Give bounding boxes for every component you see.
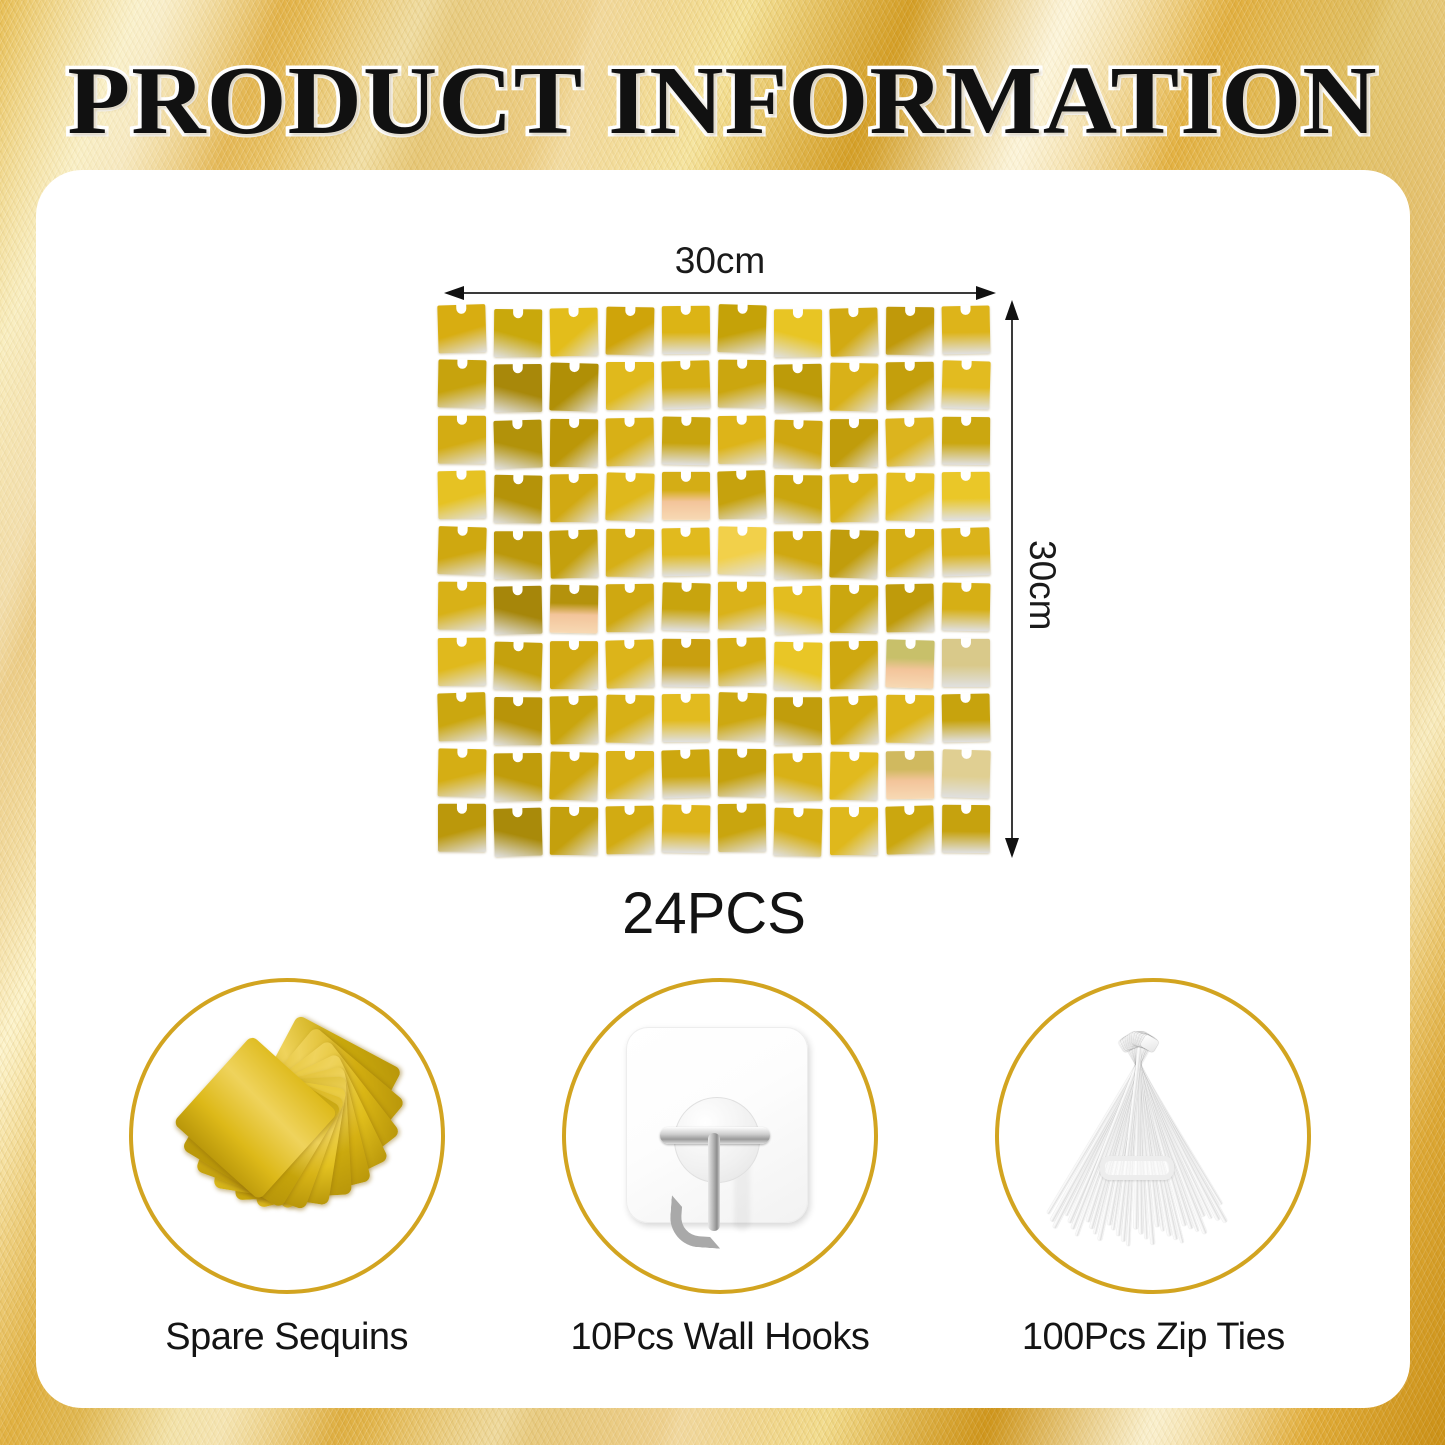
sequin-cell bbox=[826, 692, 882, 748]
sequin bbox=[494, 753, 543, 801]
sequin bbox=[437, 304, 487, 353]
sequin bbox=[662, 472, 710, 520]
sequin bbox=[718, 804, 767, 852]
sequin-cell bbox=[434, 747, 490, 803]
tie-band bbox=[1100, 1156, 1174, 1180]
sequin bbox=[493, 419, 543, 468]
panel-quantity-label: 24PCS bbox=[434, 880, 994, 947]
sequin-cell bbox=[490, 414, 546, 470]
sequin bbox=[941, 305, 990, 354]
sequin bbox=[718, 360, 767, 408]
sequin bbox=[493, 641, 543, 690]
sequin bbox=[718, 582, 766, 630]
accessory-callouts: Spare Sequins 10Pcs Wall Hooks bbox=[70, 978, 1370, 1378]
sequin bbox=[437, 693, 487, 742]
sequin-cell bbox=[826, 525, 882, 581]
sequin-cell bbox=[714, 692, 770, 748]
sequin-cell bbox=[490, 525, 546, 581]
sequin bbox=[438, 582, 487, 630]
sequin-cell bbox=[938, 581, 994, 637]
sequin-cell bbox=[546, 359, 602, 415]
sequin-cell bbox=[938, 803, 994, 859]
sequin bbox=[942, 639, 990, 687]
sequin bbox=[494, 586, 543, 635]
sequin-cell bbox=[602, 470, 658, 526]
sequin-cell bbox=[938, 525, 994, 581]
sequin bbox=[437, 526, 487, 575]
sequin bbox=[549, 751, 599, 800]
sequin-cell bbox=[770, 525, 826, 581]
sequin bbox=[550, 474, 599, 522]
sequin-cell bbox=[546, 525, 602, 581]
sequin-cell bbox=[658, 414, 714, 470]
sequin-cell bbox=[434, 303, 490, 359]
sequin bbox=[941, 527, 991, 576]
sequin-cell bbox=[714, 581, 770, 637]
callout-wall-hooks: 10Pcs Wall Hooks bbox=[530, 978, 910, 1359]
sequin-cell bbox=[490, 692, 546, 748]
sequin-cell bbox=[826, 581, 882, 637]
sequin-cell bbox=[434, 525, 490, 581]
sequin-cell bbox=[546, 470, 602, 526]
sequin-cell bbox=[602, 303, 658, 359]
height-dimension-arrow bbox=[1004, 300, 1020, 858]
sequin-cell bbox=[770, 414, 826, 470]
sequin-cell bbox=[770, 692, 826, 748]
sequin-cell bbox=[826, 414, 882, 470]
callout-label-zip-ties: 100Pcs Zip Ties bbox=[963, 1316, 1343, 1359]
sequin-cell bbox=[546, 803, 602, 859]
sequin-cell bbox=[602, 803, 658, 859]
sequin bbox=[661, 416, 710, 465]
sequin-cell bbox=[658, 470, 714, 526]
callout-spare-sequins: Spare Sequins bbox=[97, 978, 477, 1359]
sequin-cell bbox=[714, 303, 770, 359]
sequin-cell bbox=[882, 359, 938, 415]
sequin bbox=[438, 804, 486, 852]
sequin bbox=[830, 807, 878, 855]
sequin-cell bbox=[770, 747, 826, 803]
sequin-cell bbox=[602, 581, 658, 637]
sequin bbox=[886, 307, 935, 355]
sequin-cell bbox=[882, 470, 938, 526]
sequin bbox=[829, 529, 879, 578]
sequin-cell bbox=[882, 581, 938, 637]
sequin bbox=[606, 751, 654, 799]
sequin-cell bbox=[714, 747, 770, 803]
sequin-cell bbox=[490, 303, 546, 359]
sequin-cell bbox=[602, 525, 658, 581]
sequin bbox=[549, 308, 598, 357]
sequin bbox=[662, 694, 711, 742]
page-title: PRODUCT INFORMATION bbox=[0, 52, 1445, 149]
sequin bbox=[662, 639, 711, 687]
sequin bbox=[774, 364, 823, 413]
sequin-cell bbox=[938, 692, 994, 748]
sequin-cell bbox=[434, 803, 490, 859]
sequin bbox=[717, 304, 767, 353]
width-dimension-arrow bbox=[444, 285, 996, 301]
sequin-cell bbox=[490, 636, 546, 692]
sequin bbox=[717, 471, 767, 520]
sequin-cell bbox=[826, 359, 882, 415]
sequin bbox=[438, 416, 486, 464]
sequin-cell bbox=[546, 747, 602, 803]
sequin-cell bbox=[826, 470, 882, 526]
sequin-cell bbox=[770, 636, 826, 692]
sequin-cell bbox=[770, 581, 826, 637]
sequin bbox=[941, 361, 991, 410]
sequin bbox=[661, 805, 710, 854]
sequin-cell bbox=[714, 470, 770, 526]
sequin bbox=[605, 473, 655, 522]
sequin bbox=[718, 526, 767, 575]
sequin bbox=[550, 419, 599, 467]
sequin bbox=[661, 361, 711, 410]
sequin-cell bbox=[490, 803, 546, 859]
sequin-cell bbox=[882, 747, 938, 803]
sequin bbox=[829, 752, 878, 801]
sequin bbox=[438, 748, 487, 797]
sequin-cell bbox=[714, 359, 770, 415]
sequin bbox=[830, 585, 879, 633]
sequin bbox=[661, 749, 711, 798]
sequin-cell bbox=[882, 803, 938, 859]
sequin-cell bbox=[938, 470, 994, 526]
sequin-stack-icon bbox=[152, 1031, 422, 1241]
sequin bbox=[773, 419, 823, 468]
sequin bbox=[437, 471, 486, 520]
sequin bbox=[717, 693, 767, 742]
sequin-cell bbox=[434, 414, 490, 470]
sequin bbox=[549, 585, 598, 634]
sequin-cell bbox=[826, 636, 882, 692]
sequin-cell bbox=[546, 414, 602, 470]
sequin bbox=[549, 696, 598, 745]
sequin-cell bbox=[546, 636, 602, 692]
sequin bbox=[718, 748, 767, 796]
sequin bbox=[774, 698, 822, 746]
sequin bbox=[829, 307, 879, 356]
sequin-cell bbox=[490, 747, 546, 803]
callout-zip-ties: 100Pcs Zip Ties bbox=[963, 978, 1343, 1359]
sequin-cell bbox=[658, 359, 714, 415]
sequin bbox=[830, 419, 878, 467]
sequin-cell bbox=[434, 581, 490, 637]
sequin bbox=[438, 360, 487, 409]
sequin bbox=[829, 696, 879, 745]
sequin-cell bbox=[882, 525, 938, 581]
callout-label-spare-sequins: Spare Sequins bbox=[97, 1316, 477, 1359]
sequin bbox=[493, 808, 543, 857]
sequin-cell bbox=[714, 414, 770, 470]
sequin bbox=[718, 415, 767, 463]
sequin bbox=[494, 531, 542, 579]
sequin bbox=[941, 694, 990, 743]
sequin-cell bbox=[938, 303, 994, 359]
product-information-page: PRODUCT INFORMATION 30cm 30cm 24PCS Spar… bbox=[0, 0, 1445, 1445]
sequin bbox=[606, 529, 655, 577]
sequin bbox=[549, 363, 599, 412]
sequin-cell bbox=[546, 581, 602, 637]
sequin-cell bbox=[658, 692, 714, 748]
sequin bbox=[494, 309, 543, 357]
sequin-cell bbox=[434, 636, 490, 692]
sequin-cell bbox=[826, 803, 882, 859]
sequin-cell bbox=[602, 414, 658, 470]
sequin bbox=[661, 527, 710, 576]
sequin bbox=[829, 363, 878, 412]
sequin bbox=[886, 751, 935, 799]
sequin-cell bbox=[490, 470, 546, 526]
sequin bbox=[494, 364, 543, 412]
callout-ring bbox=[129, 978, 445, 1294]
sequin-cell bbox=[658, 303, 714, 359]
sequin bbox=[885, 584, 934, 633]
sequin bbox=[942, 417, 991, 465]
sequin-cell bbox=[882, 303, 938, 359]
sequin bbox=[605, 417, 654, 466]
sequin-cell bbox=[714, 636, 770, 692]
sequin bbox=[605, 306, 654, 355]
sequin bbox=[493, 475, 542, 524]
sequin bbox=[438, 637, 487, 685]
sequin bbox=[661, 583, 711, 632]
sequin-cell bbox=[658, 747, 714, 803]
sequin-cell bbox=[602, 692, 658, 748]
sequin bbox=[886, 362, 935, 410]
sequin-cell bbox=[770, 803, 826, 859]
sequin bbox=[605, 639, 655, 688]
sequin-cell bbox=[882, 692, 938, 748]
sequin bbox=[606, 584, 655, 632]
callout-ring bbox=[995, 978, 1311, 1294]
sequin bbox=[773, 642, 822, 691]
sequin-cell bbox=[714, 803, 770, 859]
sequin-cell bbox=[434, 359, 490, 415]
sequin bbox=[717, 637, 766, 686]
sequin bbox=[550, 807, 599, 855]
sequin bbox=[774, 309, 822, 357]
sequin bbox=[830, 641, 879, 689]
sequin-cell bbox=[938, 636, 994, 692]
sequin bbox=[942, 805, 991, 853]
sequin-cell bbox=[882, 414, 938, 470]
sequin bbox=[829, 474, 878, 523]
sequin bbox=[885, 417, 935, 466]
sequin bbox=[773, 808, 823, 857]
sequin-cell bbox=[714, 525, 770, 581]
sequin bbox=[662, 306, 711, 354]
sequin-cell bbox=[938, 359, 994, 415]
sequin bbox=[494, 697, 543, 745]
sequin-cell bbox=[490, 359, 546, 415]
sequin-cell bbox=[490, 581, 546, 637]
sequin-panel bbox=[434, 303, 994, 858]
sequin-cell bbox=[826, 747, 882, 803]
sequin bbox=[774, 753, 823, 802]
sequin bbox=[774, 531, 823, 579]
wall-hook-icon bbox=[612, 1021, 827, 1251]
sequin-cell bbox=[602, 747, 658, 803]
sequin bbox=[885, 639, 935, 688]
sequin-cell bbox=[882, 636, 938, 692]
sequin bbox=[886, 695, 935, 743]
sequin-cell bbox=[938, 414, 994, 470]
sequin bbox=[941, 583, 990, 632]
sequin-cell bbox=[546, 303, 602, 359]
sequin-cell bbox=[602, 636, 658, 692]
sequin bbox=[886, 529, 934, 577]
sequin-cell bbox=[434, 470, 490, 526]
sequin bbox=[605, 695, 654, 744]
sequin-cell bbox=[434, 692, 490, 748]
sequin-cell bbox=[770, 303, 826, 359]
sequin-cell bbox=[770, 470, 826, 526]
sequin-cell bbox=[826, 303, 882, 359]
sequin-cell bbox=[658, 525, 714, 581]
sequin-cell bbox=[938, 747, 994, 803]
sequin bbox=[606, 362, 654, 410]
hook-curve bbox=[669, 1195, 724, 1249]
sequin-cell bbox=[658, 636, 714, 692]
panel-height-label: 30cm bbox=[1021, 540, 1063, 630]
zip-ties-icon bbox=[1048, 1016, 1258, 1256]
sequin bbox=[550, 641, 598, 689]
callout-ring bbox=[562, 978, 878, 1294]
sequin-cell bbox=[770, 359, 826, 415]
sequin-cell bbox=[658, 581, 714, 637]
callout-label-wall-hooks: 10Pcs Wall Hooks bbox=[530, 1316, 910, 1359]
sequin bbox=[885, 806, 935, 855]
sequin bbox=[773, 586, 823, 635]
sequin bbox=[605, 806, 654, 855]
sequin-cell bbox=[658, 803, 714, 859]
sequin bbox=[942, 472, 991, 520]
panel-width-label: 30cm bbox=[430, 240, 1010, 282]
sequin bbox=[549, 529, 599, 578]
sequin bbox=[941, 749, 991, 798]
sequin bbox=[774, 475, 823, 523]
sequin-cell bbox=[602, 359, 658, 415]
sequin-cell bbox=[546, 692, 602, 748]
sequin bbox=[885, 473, 934, 522]
